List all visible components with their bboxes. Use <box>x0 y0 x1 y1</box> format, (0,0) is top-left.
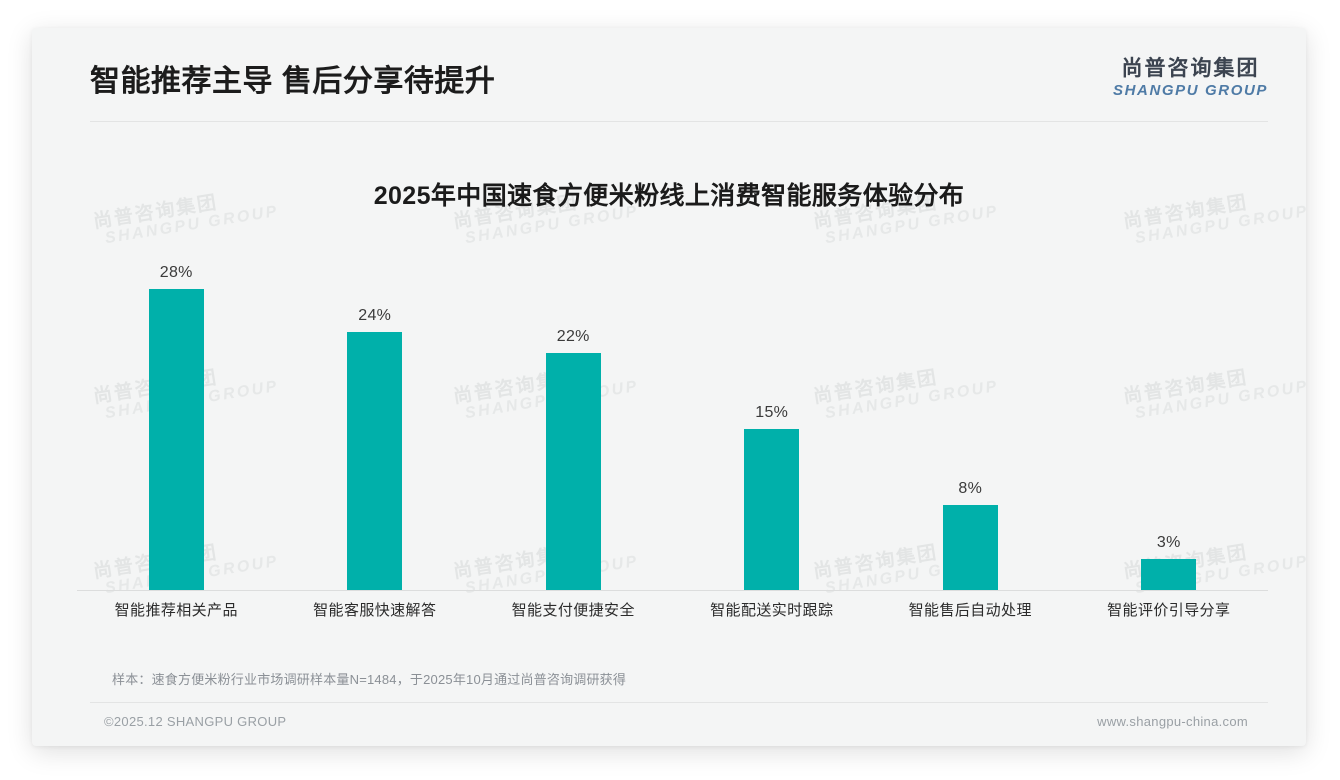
chart-container: 2025年中国速食方便米粉线上消费智能服务体验分布 28% 24% 22% 15… <box>32 121 1306 654</box>
bar[interactable] <box>347 332 402 591</box>
x-axis-label: 智能配送实时跟踪 <box>673 599 872 620</box>
bar-value-label: 24% <box>358 307 391 325</box>
bar-value-label: 3% <box>1157 534 1181 552</box>
bar-slot: 28% <box>77 231 276 591</box>
bar[interactable] <box>744 429 799 591</box>
x-axis-label: 智能支付便捷安全 <box>474 599 673 620</box>
bar[interactable] <box>943 505 998 591</box>
chart-title: 2025年中国速食方便米粉线上消费智能服务体验分布 <box>32 176 1306 212</box>
bar-slot: 24% <box>276 231 475 591</box>
brand-logo-en: SHANGPU GROUP <box>1113 82 1268 100</box>
x-axis-label: 智能售后自动处理 <box>871 599 1070 620</box>
website-link[interactable]: www.shangpu-china.com <box>1097 714 1248 729</box>
chart-plot-area: 28% 24% 22% 15% 8% <box>77 231 1268 591</box>
bar[interactable] <box>1141 559 1196 591</box>
bar-slot: 3% <box>1070 231 1269 591</box>
bar-series: 28% 24% 22% 15% 8% <box>77 231 1268 591</box>
x-axis-label: 智能评价引导分享 <box>1070 599 1269 620</box>
x-axis-labels: 智能推荐相关产品 智能客服快速解答 智能支付便捷安全 智能配送实时跟踪 智能售后… <box>77 599 1268 620</box>
brand-logo: 尚普咨询集团 SHANGPU GROUP <box>1113 57 1268 100</box>
bar-value-label: 22% <box>557 328 590 346</box>
header-divider <box>90 121 1268 122</box>
x-axis-label: 智能客服快速解答 <box>276 599 475 620</box>
slide-header: 智能推荐主导 售后分享待提升 尚普咨询集团 SHANGPU GROUP <box>32 28 1306 121</box>
slide-footer: ©2025.12 SHANGPU GROUP www.shangpu-china… <box>32 703 1306 746</box>
bar[interactable] <box>149 289 204 591</box>
slide-card: 尚普咨询集团 SHANGPU GROUP 尚普咨询集团 SHANGPU GROU… <box>32 28 1306 746</box>
x-axis-label: 智能推荐相关产品 <box>77 599 276 620</box>
bar-slot: 8% <box>871 231 1070 591</box>
page-title: 智能推荐主导 售后分享待提升 <box>90 56 495 100</box>
sample-footnote: 样本：速食方便米粉行业市场调研样本量N=1484，于2025年10月通过尚普咨询… <box>112 669 626 688</box>
brand-logo-cn: 尚普咨询集团 <box>1113 57 1268 81</box>
x-axis-line <box>77 590 1268 591</box>
bar-value-label: 28% <box>160 264 193 282</box>
bar-value-label: 15% <box>755 404 788 422</box>
copyright-text: ©2025.12 SHANGPU GROUP <box>104 714 286 729</box>
bar-slot: 15% <box>673 231 872 591</box>
bar-slot: 22% <box>474 231 673 591</box>
bar[interactable] <box>546 353 601 591</box>
bar-value-label: 8% <box>958 480 982 498</box>
